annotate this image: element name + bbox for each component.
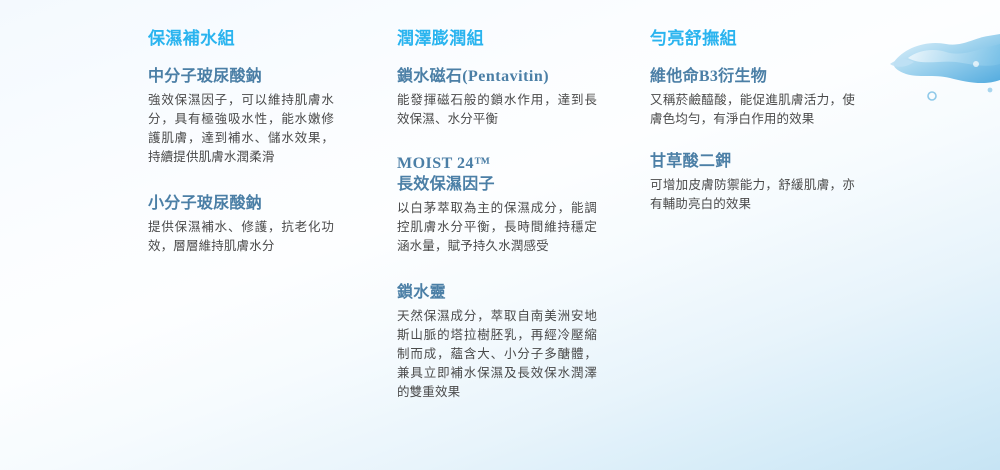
group-title: 保濕補水組 — [148, 28, 334, 50]
ingredient-name: 中分子玻尿酸鈉 — [148, 66, 334, 87]
column-brightening-group: 勻亮舒撫組 維他命B3衍生物 又稱菸鹼醯酸，能促進肌膚活力，使膚色均勻，有淨白作… — [650, 28, 855, 214]
ingredient-item: 小分子玻尿酸鈉 提供保濕補水、修護，抗老化功效，層層維持肌膚水分 — [148, 193, 334, 256]
column-plumping-group: 潤澤膨潤組 鎖水磁石(Pentavitin) 能發揮磁石般的鎖水作用，達到長效保… — [397, 28, 597, 402]
columns-container: 保濕補水組 中分子玻尿酸鈉 強效保濕因子，可以維持肌膚水分，具有極強吸水性，能水… — [0, 0, 1000, 470]
ingredient-name: 鎖水靈 — [397, 282, 597, 303]
group-title: 潤澤膨潤組 — [397, 28, 597, 50]
ingredient-name-cjk: 鎖水磁石 — [397, 68, 462, 85]
ingredient-item: 鎖水靈 天然保濕成分，萃取自南美洲安地斯山脈的塔拉樹胚乳，再經冷壓縮制而成，蘊含… — [397, 282, 597, 402]
ingredient-name-latin: (Pentavitin) — [462, 68, 549, 85]
ingredient-description: 以白茅萃取為主的保濕成分，能調控肌膚水分平衡，長時間維持穩定涵水量，賦予持久水潤… — [397, 199, 597, 256]
ingredient-description: 提供保濕補水、修護，抗老化功效，層層維持肌膚水分 — [148, 218, 334, 256]
ingredient-name: MOIST 24™ 長效保濕因子 — [397, 153, 597, 195]
group-title: 勻亮舒撫組 — [650, 28, 855, 50]
ingredient-name: 維他命B3衍生物 — [650, 66, 855, 87]
ingredient-description: 可增加皮膚防禦能力，舒緩肌膚，亦有輔助亮白的效果 — [650, 176, 855, 214]
ingredient-description: 能發揮磁石般的鎖水作用，達到長效保濕、水分平衡 — [397, 91, 597, 129]
ingredient-item: MOIST 24™ 長效保濕因子 以白茅萃取為主的保濕成分，能調控肌膚水分平衡，… — [397, 153, 597, 256]
ingredient-item: 維他命B3衍生物 又稱菸鹼醯酸，能促進肌膚活力，使膚色均勻，有淨白作用的效果 — [650, 66, 855, 129]
ingredient-name-latin: MOIST 24™ — [397, 155, 491, 172]
ingredient-name: 甘草酸二鉀 — [650, 151, 855, 172]
ingredient-item: 中分子玻尿酸鈉 強效保濕因子，可以維持肌膚水分，具有極強吸水性，能水嫩修護肌膚，… — [148, 66, 334, 167]
ingredient-description: 天然保濕成分，萃取自南美洲安地斯山脈的塔拉樹胚乳，再經冷壓縮制而成，蘊含大、小分… — [397, 307, 597, 402]
ingredient-description: 又稱菸鹼醯酸，能促進肌膚活力，使膚色均勻，有淨白作用的效果 — [650, 91, 855, 129]
ingredient-item: 鎖水磁石(Pentavitin) 能發揮磁石般的鎖水作用，達到長效保濕、水分平衡 — [397, 66, 597, 129]
ingredient-description: 強效保濕因子，可以維持肌膚水分，具有極強吸水性，能水嫩修護肌膚，達到補水、儲水效… — [148, 91, 334, 167]
ingredient-name-cjk: 長效保濕因子 — [397, 176, 495, 193]
ingredient-item: 甘草酸二鉀 可增加皮膚防禦能力，舒緩肌膚，亦有輔助亮白的效果 — [650, 151, 855, 214]
ingredient-infographic-page: 保濕補水組 中分子玻尿酸鈉 強效保濕因子，可以維持肌膚水分，具有極強吸水性，能水… — [0, 0, 1000, 470]
ingredient-name: 小分子玻尿酸鈉 — [148, 193, 334, 214]
ingredient-name: 鎖水磁石(Pentavitin) — [397, 66, 597, 87]
column-moisture-group: 保濕補水組 中分子玻尿酸鈉 強效保濕因子，可以維持肌膚水分，具有極強吸水性，能水… — [148, 28, 334, 256]
